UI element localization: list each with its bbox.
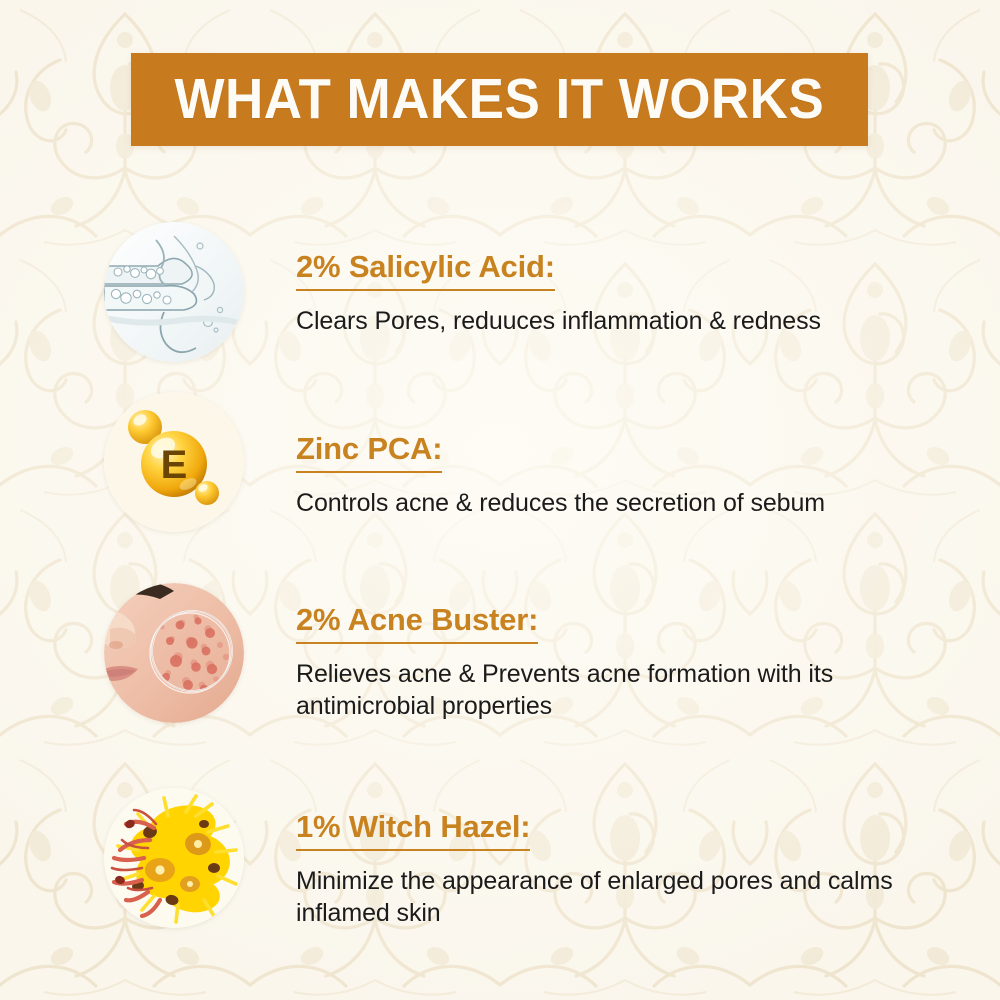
ingredient-copy: Zinc PCA: Controls acne & reduces the se… [296,432,936,519]
ingredient-heading: 2% Salicylic Acid: [296,250,555,291]
clear-gel-serum-swatch-image [104,222,244,362]
golden-vitamin-capsule-droplet-image: E [104,392,244,532]
ingredient-description: Minimize the appearance of enlarged pore… [296,865,896,930]
ingredient-heading: 2% Acne Buster: [296,603,538,644]
product-benefits-infographic: WHAT MAKES IT WORKS [0,0,1000,1000]
witch-hazel-flowers-image [104,788,244,928]
ingredient-description: Clears Pores, reduuces inflammation & re… [296,305,896,338]
ingredient-copy: 2% Salicylic Acid: Clears Pores, reduuce… [296,250,936,337]
svg-text:E: E [161,443,188,487]
page-title: WHAT MAKES IT WORKS [175,71,825,128]
ingredient-description: Controls acne & reduces the secretion of… [296,487,896,520]
ingredient-heading: 1% Witch Hazel: [296,810,530,851]
ingredient-heading: Zinc PCA: [296,432,442,473]
title-banner: WHAT MAKES IT WORKS [131,53,868,146]
ingredient-list: 2% Salicylic Acid: Clears Pores, reduuce… [0,0,1000,1000]
ingredient-description: Relieves acne & Prevents acne formation … [296,658,896,723]
ingredient-copy: 1% Witch Hazel: Minimize the appearance … [296,810,936,930]
acne-skin-closeup-magnified-image [104,583,244,723]
ingredient-copy: 2% Acne Buster: Relieves acne & Prevents… [296,603,936,723]
